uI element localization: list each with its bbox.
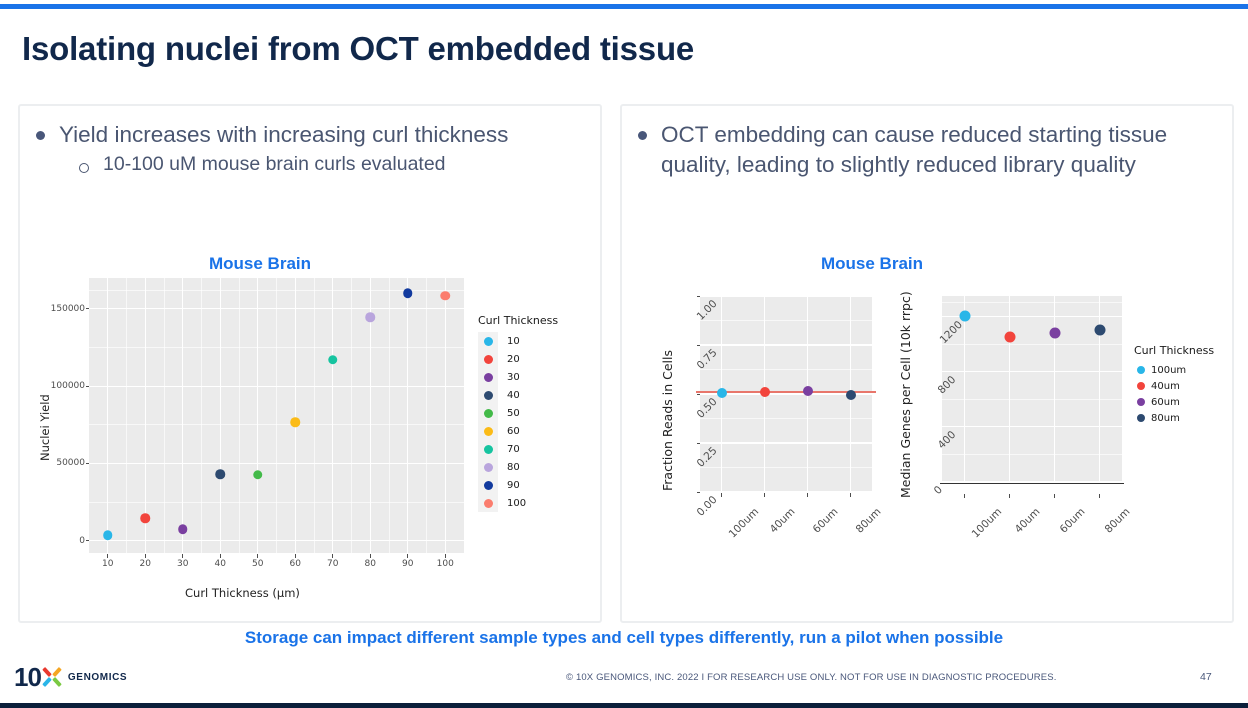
grid-horizontal [700,295,872,296]
legend-row: 20 [478,350,558,368]
grid-horizontal-minor [942,344,1122,345]
grid-vertical-minor [314,278,315,553]
x-tick-label: 40 [208,559,232,569]
legend-key [1134,394,1148,410]
grid-horizontal-minor [942,399,1122,400]
legend-key [478,404,498,422]
bullet-item: Yield increases with increasing curl thi… [36,120,590,150]
median-genes-baseline [940,483,1124,484]
y-tick-label: 0 [932,484,945,497]
legend-key [478,386,498,404]
legend-row: 60um [1134,394,1214,410]
legend-label: 100 [507,498,526,509]
x-tick-label: 90 [396,559,420,569]
grid-vertical-minor [239,278,240,553]
right-content-panel: OCT embedding can cause reduced starting… [620,104,1234,623]
x-tick-mark [295,554,296,558]
grid-vertical [257,278,258,553]
legend-label: 80 [507,462,520,473]
data-point [1049,327,1060,338]
grid-vertical [332,278,333,553]
data-point [441,291,451,301]
legend-label: 40 [507,390,520,401]
grid-horizontal [89,540,464,541]
median-genes-plot-area [942,296,1122,482]
footer-takeaway: Storage can impact different sample type… [0,628,1248,648]
bullet-dot-icon [36,131,45,140]
sub-bullet-text: 10-100 uM mouse brain curls evaluated [103,152,446,178]
legend-title: Curl Thickness [478,314,558,327]
grid-horizontal [700,442,872,443]
x-tick-mark [370,554,371,558]
legend-row: 90 [478,476,558,494]
bottom-accent-bar [0,703,1248,708]
legend-key [478,368,498,386]
data-point [366,313,376,323]
grid-vertical [107,278,108,553]
grid-horizontal-minor [89,347,464,348]
grid-vertical-minor [164,278,165,553]
legend-label: 80um [1151,413,1180,424]
grid-vertical [182,278,183,553]
bullet-dot-icon [638,131,647,140]
grid-horizontal-minor [942,302,1122,303]
grid-horizontal [942,426,1122,427]
brand-logo: 10 GENOMICS [14,664,127,690]
legend-row: 70 [478,440,558,458]
x-tick-mark [964,494,965,498]
data-point [959,310,970,321]
top-accent-bar [0,4,1248,9]
legend-swatch-icon [1137,382,1145,390]
grid-horizontal-minor [700,467,872,468]
grid-vertical [145,278,146,553]
nuclei-yield-plot-area [89,278,464,553]
x-tick-mark [1099,494,1100,498]
legend-row: 40um [1134,378,1214,394]
legend-title: Curl Thickness [1134,344,1214,357]
data-point [1004,331,1015,342]
data-point [253,470,263,480]
x-tick-mark [407,554,408,558]
chart-title-mouse-brain-right: Mouse Brain [752,254,992,274]
grid-vertical [220,278,221,553]
x-tick-label: 70 [321,559,345,569]
sub-bullet-item: 10-100 uM mouse brain curls evaluated [79,152,590,178]
x-tick-mark [807,493,808,497]
data-point [803,386,813,396]
copyright-text: © 10X GENOMICS, INC. 2022 I FOR RESEARCH… [566,672,1057,683]
data-point [178,524,188,534]
bullet-item: OCT embedding can cause reduced starting… [638,120,1222,180]
x-tick-label: 100um [969,506,1004,541]
grid-horizontal-minor [700,320,872,321]
grid-vertical-minor [426,278,427,553]
x-tick-label: 80um [853,506,883,536]
legend-label: 100um [1151,365,1186,376]
legend-swatch-icon [484,337,493,346]
x-tick-mark [107,554,108,558]
y-tick-mark [697,345,701,346]
x-tick-mark [721,493,722,497]
data-point [141,513,151,523]
x-tick-mark [182,554,183,558]
legend-row: 30 [478,368,558,386]
left-content-panel: Yield increases with increasing curl thi… [18,104,602,623]
legend-row: 80um [1134,410,1214,426]
grid-horizontal [700,344,872,345]
y-tick-mark [697,492,701,493]
grid-vertical-minor [201,278,202,553]
legend-swatch-icon [484,499,493,508]
legend-label: 60um [1151,397,1180,408]
legend-key [1134,362,1148,378]
y-tick-mark [86,308,90,309]
legend-label: 30 [507,372,520,383]
legend-row: 50 [478,404,558,422]
data-point [328,355,338,365]
data-point [103,530,113,540]
legend-rows: 100um40um60um80um [1134,362,1214,426]
logo-x-icon [42,667,63,688]
grid-horizontal [89,386,464,387]
left-bullet-list: Yield increases with increasing curl thi… [36,120,590,178]
right-bullet-list: OCT embedding can cause reduced starting… [638,120,1222,182]
y-tick-mark [697,296,701,297]
legend-label: 60 [507,426,520,437]
legend-label: 90 [507,480,520,491]
x-tick-mark [1054,494,1055,498]
grid-horizontal [942,371,1122,372]
legend-key [478,350,498,368]
x-tick-label: 20 [133,559,157,569]
x-tick-label: 60um [1057,506,1087,536]
sub-bullet-circle-icon [79,163,89,173]
data-point [1094,325,1105,336]
grid-vertical [295,278,296,553]
x-tick-label: 80 [358,559,382,569]
y-tick-mark [697,394,701,395]
legend-swatch-icon [484,373,493,382]
legend-key [478,458,498,476]
legend-swatch-icon [484,391,493,400]
x-tick-mark [850,493,851,497]
legend-key [1134,410,1148,426]
legend-swatch-icon [484,463,493,472]
legend-swatch-icon [484,409,493,418]
x-tick-label: 50 [246,559,270,569]
x-tick-mark [332,554,333,558]
legend-key [478,332,498,350]
legend-row: 10 [478,332,558,350]
grid-horizontal-minor [89,424,464,425]
legend-nuclei-yield: Curl Thickness 102030405060708090100 [478,314,558,512]
x-tick-mark [257,554,258,558]
grid-vertical-minor [276,278,277,553]
y-axis-title-median-genes: Median Genes per Cell (10k rrpc) [898,291,913,498]
legend-label: 10 [507,336,520,347]
x-tick-label: 80um [1102,506,1132,536]
legend-label: 70 [507,444,520,455]
grid-vertical-minor [126,278,127,553]
legend-row: 100um [1134,362,1214,378]
legend-key [478,494,498,512]
legend-label: 20 [507,354,520,365]
x-tick-label: 100um [726,506,761,541]
bullet-text: Yield increases with increasing curl thi… [59,120,508,150]
legend-key [478,440,498,458]
x-tick-mark [764,493,765,497]
grid-vertical [445,278,446,553]
legend-swatch-icon [484,445,493,454]
grid-vertical-minor [389,278,390,553]
grid-horizontal [700,491,872,492]
legend-median-genes: Curl Thickness 100um40um60um80um [1134,344,1214,426]
y-tick-label: 150000 [43,304,85,314]
x-tick-mark [220,554,221,558]
logo-mark-text: 10 [14,664,41,690]
legend-swatch-icon [1137,398,1145,406]
legend-swatch-icon [484,427,493,436]
chart-title-nuclei-yield: Mouse Brain [140,254,380,274]
y-axis-title-nuclei-yield: Nuclei Yield [38,394,52,461]
fraction-reads-plot-area [700,296,872,492]
legend-swatch-icon [1137,414,1145,422]
grid-horizontal-minor [700,369,872,370]
y-axis-title-fraction-reads: Fraction Reads in Cells [660,350,675,491]
x-tick-label: 40um [767,506,797,536]
legend-swatch-icon [484,355,493,364]
x-tick-label: 100 [433,559,457,569]
legend-key [1134,378,1148,394]
legend-row: 80 [478,458,558,476]
page-number: 47 [1200,671,1212,683]
data-point [760,387,770,397]
y-tick-label: 0 [43,536,85,546]
slide: Isolating nuclei from OCT embedded tissu… [0,0,1248,708]
data-point [216,469,226,479]
legend-row: 100 [478,494,558,512]
legend-key [478,476,498,494]
data-point [291,418,301,428]
y-tick-mark [86,463,90,464]
x-tick-label: 60um [810,506,840,536]
legend-swatch-icon [1137,366,1145,374]
legend-row: 40 [478,386,558,404]
y-tick-label: 100000 [43,381,85,391]
grid-horizontal [89,308,464,309]
x-tick-mark [145,554,146,558]
grid-horizontal [89,463,464,464]
legend-row: 60 [478,422,558,440]
x-axis-title-nuclei-yield: Curl Thickness (µm) [185,586,300,600]
grid-horizontal-minor [700,418,872,419]
data-point [403,289,413,299]
legend-rows: 102030405060708090100 [478,332,558,512]
grid-horizontal-minor [89,502,464,503]
grid-horizontal-minor [942,454,1122,455]
y-tick-mark [697,443,701,444]
x-tick-label: 60 [283,559,307,569]
bullet-text: OCT embedding can cause reduced starting… [661,120,1222,180]
data-point [846,390,856,400]
x-tick-mark [445,554,446,558]
legend-key [478,422,498,440]
x-tick-label: 40um [1012,506,1042,536]
y-tick-mark [86,540,90,541]
grid-vertical [407,278,408,553]
data-point [717,388,727,398]
x-tick-label: 30 [171,559,195,569]
legend-label: 50 [507,408,520,419]
logo-wordmark: GENOMICS [68,672,127,683]
y-tick-mark [86,386,90,387]
legend-label: 40um [1151,381,1180,392]
grid-vertical-minor [351,278,352,553]
y-tick-label: 0.00 [695,494,720,519]
page-title: Isolating nuclei from OCT embedded tissu… [22,30,694,68]
legend-swatch-icon [484,481,493,490]
x-tick-mark [1009,494,1010,498]
x-tick-label: 10 [96,559,120,569]
